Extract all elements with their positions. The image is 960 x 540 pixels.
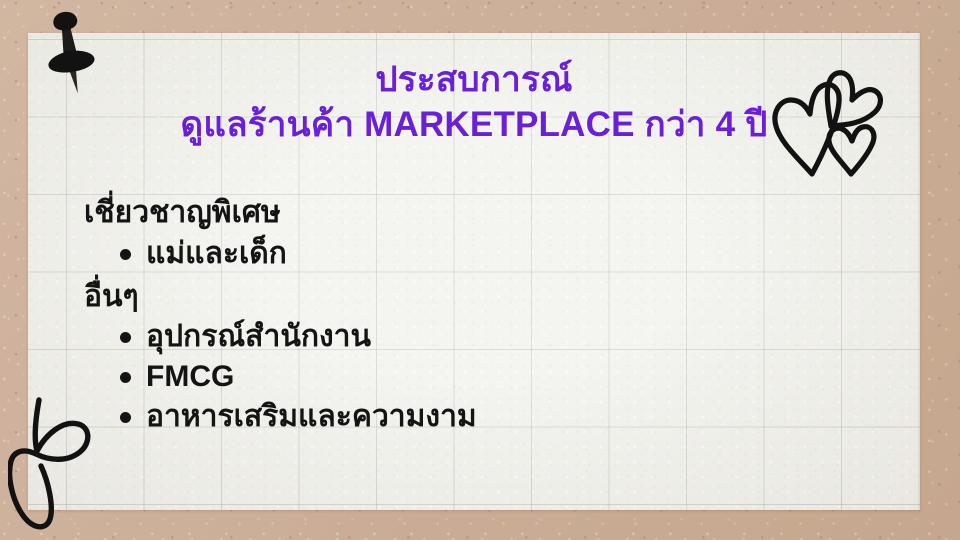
list-item-label: FMCG [146, 360, 234, 393]
bullet-dot-icon [120, 412, 131, 423]
list-item-label: อุปกรณ์สำนักงาน [146, 320, 371, 353]
title-block: ประสบการณ์ ดูแลร้านค้า MARKETPLACE กว่า … [28, 60, 920, 144]
section-others: อื่นๆ อุปกรณ์สำนักงาน FMCG อาหารเสริมและ… [84, 278, 844, 437]
title-line-1: ประสบการณ์ [28, 60, 920, 99]
bullet-dot-icon [120, 372, 131, 383]
list-item: อาหารเสริมและความงาม [84, 397, 844, 437]
list-item-label: แม่และเด็ก [146, 237, 287, 270]
title-line-2: ดูแลร้านค้า MARKETPLACE กว่า 4 ปี [28, 105, 920, 144]
section-heading: อื่นๆ [84, 278, 844, 316]
section-heading: เชี่ยวชาญพิเศษ [84, 194, 844, 232]
bullet-list: แม่และเด็ก [84, 234, 844, 274]
bullet-dot-icon [120, 249, 131, 260]
slide-canvas: ประสบการณ์ ดูแลร้านค้า MARKETPLACE กว่า … [0, 0, 960, 540]
list-item-label: อาหารเสริมและความงาม [146, 400, 477, 433]
list-item: แม่และเด็ก [84, 234, 844, 274]
bullet-dot-icon [120, 332, 131, 343]
bullet-list: อุปกรณ์สำนักงาน FMCG อาหารเสริมและความงา… [84, 317, 844, 437]
list-item: อุปกรณ์สำนักงาน [84, 317, 844, 357]
section-specialty: เชี่ยวชาญพิเศษ แม่และเด็ก [84, 194, 844, 274]
list-item: FMCG [84, 357, 844, 397]
body-content: เชี่ยวชาญพิเศษ แม่และเด็ก อื่นๆ อุปกรณ์ส… [84, 194, 844, 437]
